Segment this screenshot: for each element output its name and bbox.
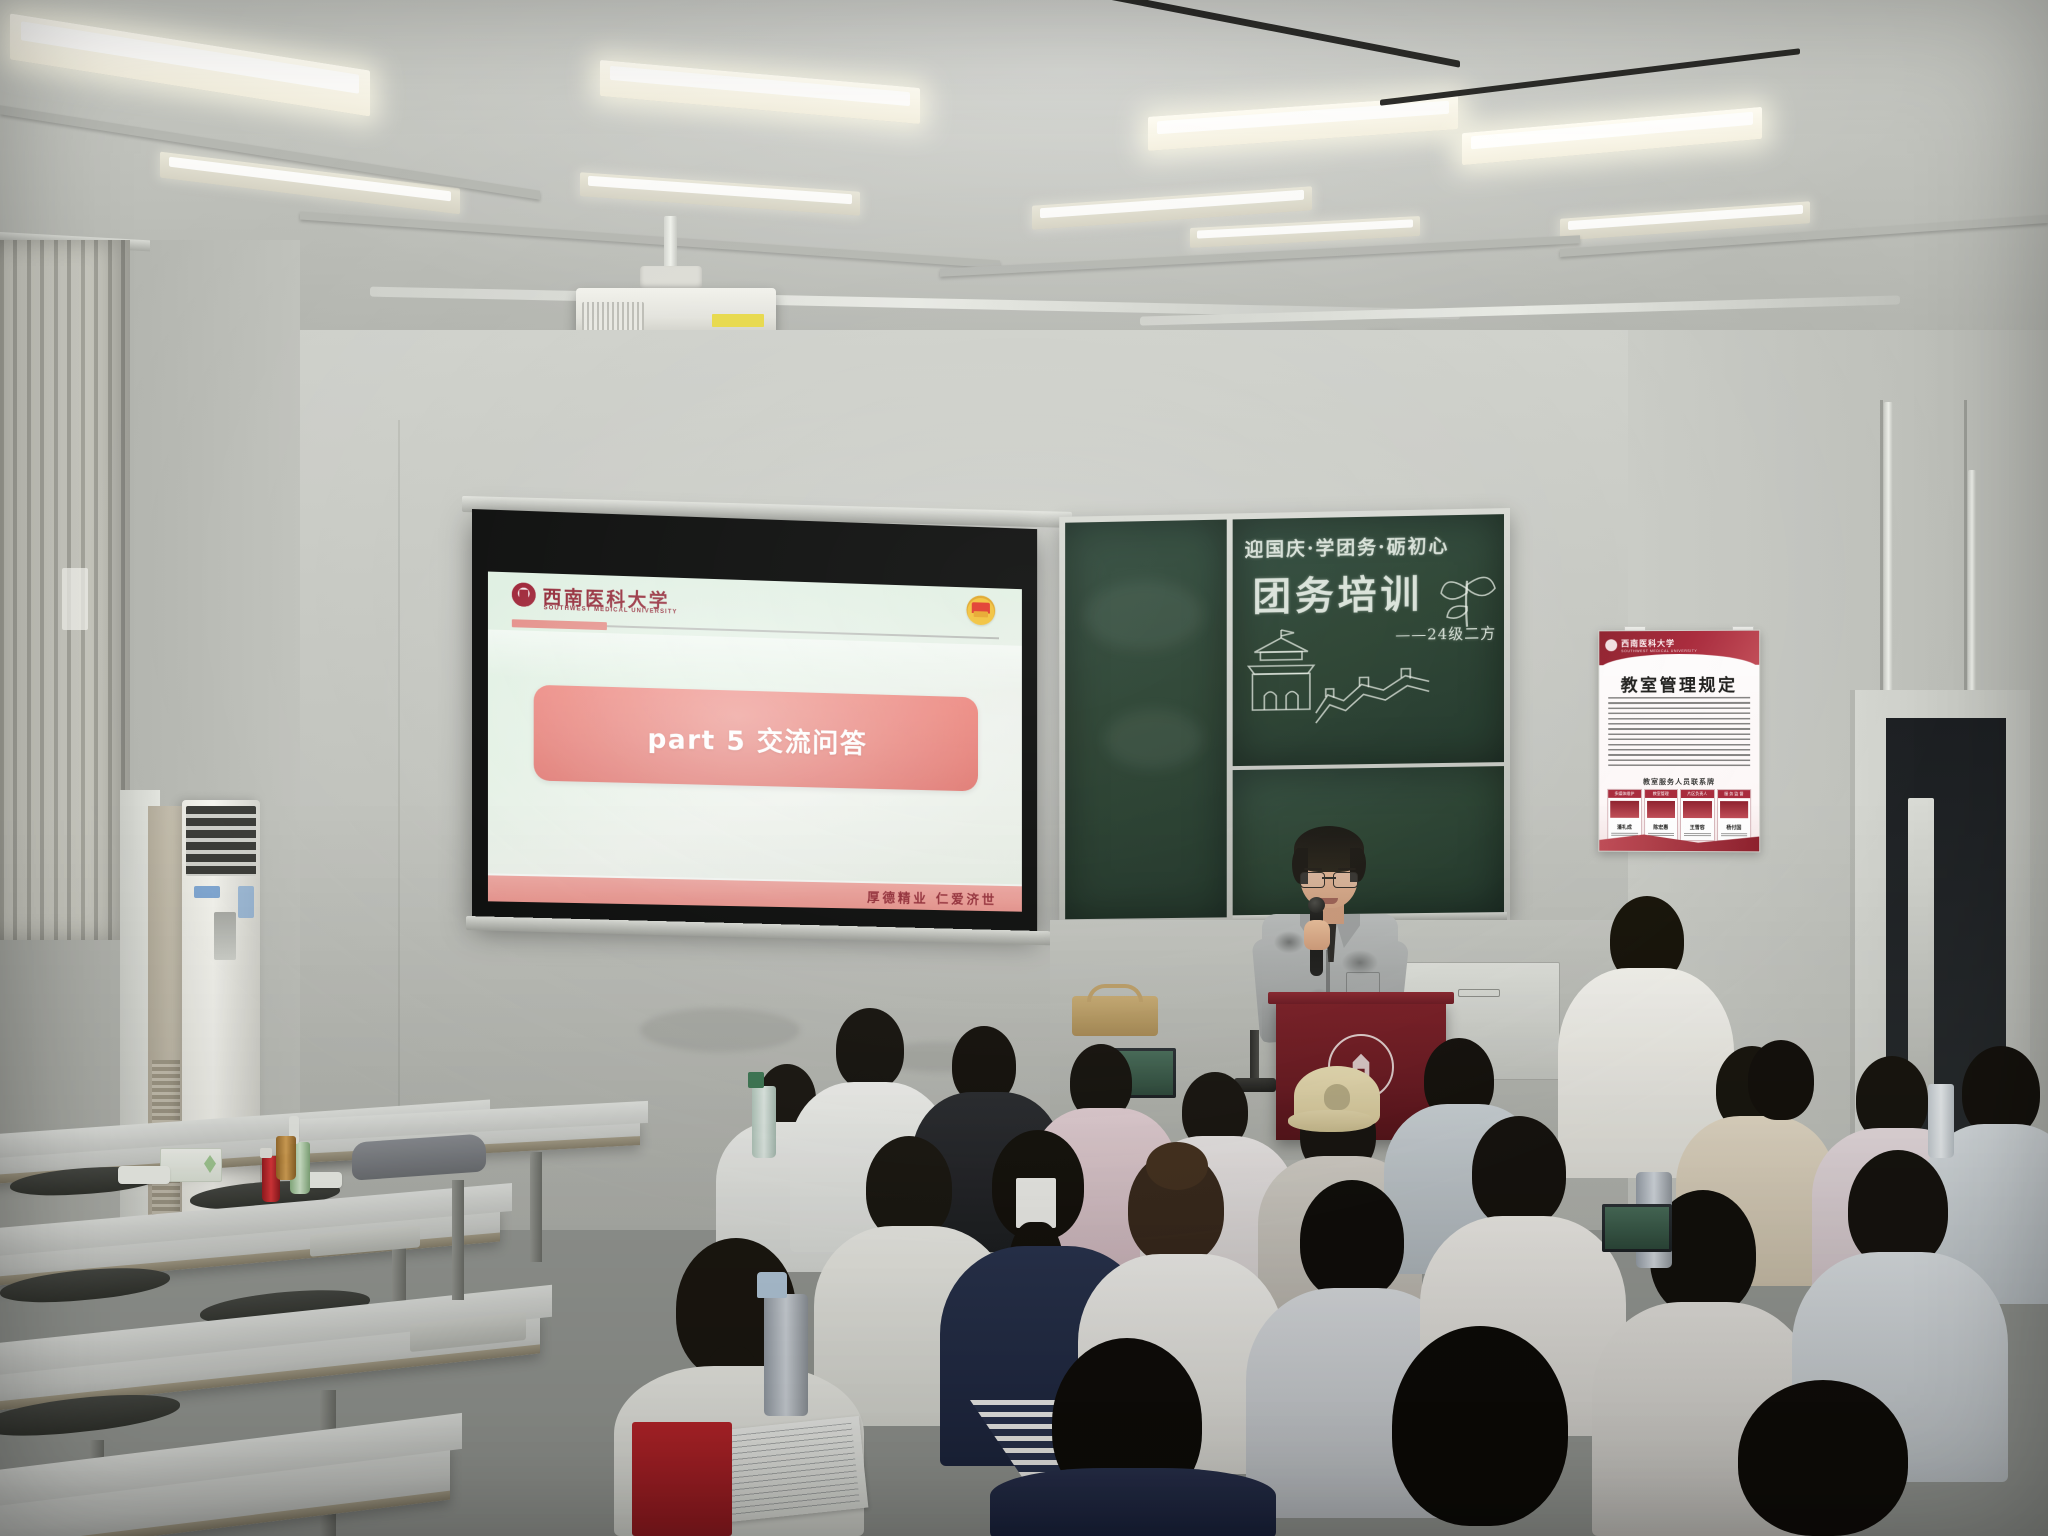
poster-contact-photo [1683,801,1712,818]
speaker-glasses-icon [1300,872,1358,887]
cap-brim [1288,1110,1374,1132]
poster-contact-phone [1684,833,1711,837]
poster-contact-cell: 教室管理 陈宏惠 [1644,789,1678,841]
cap-back-gap [1324,1084,1350,1110]
audience-head [1848,1150,1948,1268]
blackboard-title: 团务培训 [1252,564,1423,623]
slide-header-accent-bar [512,619,607,630]
poster-contact-cell: 片区负责人 王雪容 [1680,789,1715,841]
speaker-glasses-bridge [1322,877,1336,879]
poster-university-crest-icon [1605,639,1617,651]
audience-head [1738,1380,1908,1536]
water-bottle [752,1086,776,1158]
poster-title: 教室管理规定 [1599,671,1759,696]
red-tote-bag [632,1422,732,1536]
slide-banner-text: part 5 交流问答 [647,716,867,760]
air-conditioner-grille [186,806,256,876]
presentation-slide: 西南医科大学 SOUTHWEST MEDICAL UNIVERSITY part… [488,572,1022,912]
hair-clip [1016,1178,1056,1228]
poster-contact-name: 陈宏惠 [1645,824,1677,831]
wall-scuff [640,1008,800,1052]
thermos-cap [757,1272,787,1298]
bottle-cap [748,1072,764,1088]
blackboard-left-panel [1065,520,1227,920]
youth-league-emblem-icon [967,595,996,625]
poster-contact-table: 多媒体维护 潘礼成 教室管理 陈宏惠 片区负责人 王雪容 服 务 监 督 杨付 [1607,789,1751,841]
air-conditioner-badge [194,886,220,898]
poster-contact-role: 多媒体维护 [1608,790,1640,798]
water-bottle [1928,1084,1954,1158]
audience-head [1472,1116,1566,1228]
chalk-drawing-sprout [1431,558,1503,631]
thermos-flask [764,1294,808,1416]
poster-contact-name: 潘礼成 [1608,824,1640,831]
bottle-cap [260,1148,272,1158]
projector-label [712,314,764,327]
desk-leg [530,1152,542,1262]
tissue-pile [306,1172,342,1188]
poster-contact-photo [1647,801,1675,818]
curtain-tag [62,568,88,630]
woven-basket [1072,996,1158,1036]
poster-contact-phone [1721,833,1748,837]
tissue-pile [118,1166,170,1184]
poster-contact-cell: 多媒体维护 潘礼成 [1607,789,1641,841]
cabinet-handle[interactable] [1458,989,1500,997]
poster-contact-name: 王雪容 [1681,824,1714,831]
audience-head [1300,1180,1404,1300]
slide-section-banner: part 5 交流问答 [534,685,978,792]
blackboard: 迎国庆·学团务·砺初心 团务培训 ——24级二方 [1059,508,1510,925]
university-crest-icon [512,582,536,607]
projector-mount-bracket [640,266,702,290]
classroom-rules-poster: 西南医科大学 SOUTHWEST MEDICAL UNIVERSITY 教室管理… [1598,630,1760,853]
lectern-top-edge [1268,992,1454,1004]
desk-leg [452,1180,464,1300]
speaker-hand [1304,920,1330,950]
poster-contact-name: 杨付国 [1718,824,1751,831]
audience-hair-bun [1146,1142,1208,1190]
audience-head [1392,1326,1568,1526]
poster-contact-role: 片区负责人 [1681,790,1714,798]
projection-screen: 西南医科大学 SOUTHWEST MEDICAL UNIVERSITY part… [472,509,1037,932]
baseball-cap [1294,1066,1380,1126]
blackboard-headline: 迎国庆·学团务·砺初心 [1245,531,1450,562]
air-conditioner-sticker [238,886,254,918]
tablet-device [1602,1204,1672,1252]
poster-contact-photo [1720,801,1749,818]
poster-contact-photo [1610,801,1638,818]
slide-footer-motto: 厚德精业 仁爱济世 [867,887,997,908]
audience-body [990,1468,1276,1536]
poster-contact-role: 服 务 监 督 [1718,790,1751,798]
poster-university-name-en: SOUTHWEST MEDICAL UNIVERSITY [1621,649,1697,653]
poster-body-text [1608,697,1750,769]
wall-seam [398,420,400,1120]
projector-mount-rod [664,216,677,272]
audience-head [1748,1040,1814,1120]
chalk-drawing-great-wall [1314,649,1431,725]
poster-university-name-cn: 西南医科大学 [1621,638,1675,649]
chalk-drawing-tiananmen [1239,617,1324,724]
basket-handle [1087,984,1143,1002]
classroom-photo: 西南医科大学 SOUTHWEST MEDICAL UNIVERSITY part… [0,0,2048,1536]
microphone-stand [1250,1030,1259,1082]
amber-bottle [276,1136,296,1180]
poster-contact-role: 教室管理 [1645,790,1677,798]
poster-contact-cell: 服 务 监 督 杨付国 [1717,789,1752,841]
poster-subtitle: 教室服务人员联系牌 [1599,777,1759,787]
blackboard-lower-panel [1233,766,1504,917]
air-conditioner-display-panel[interactable] [214,912,236,960]
